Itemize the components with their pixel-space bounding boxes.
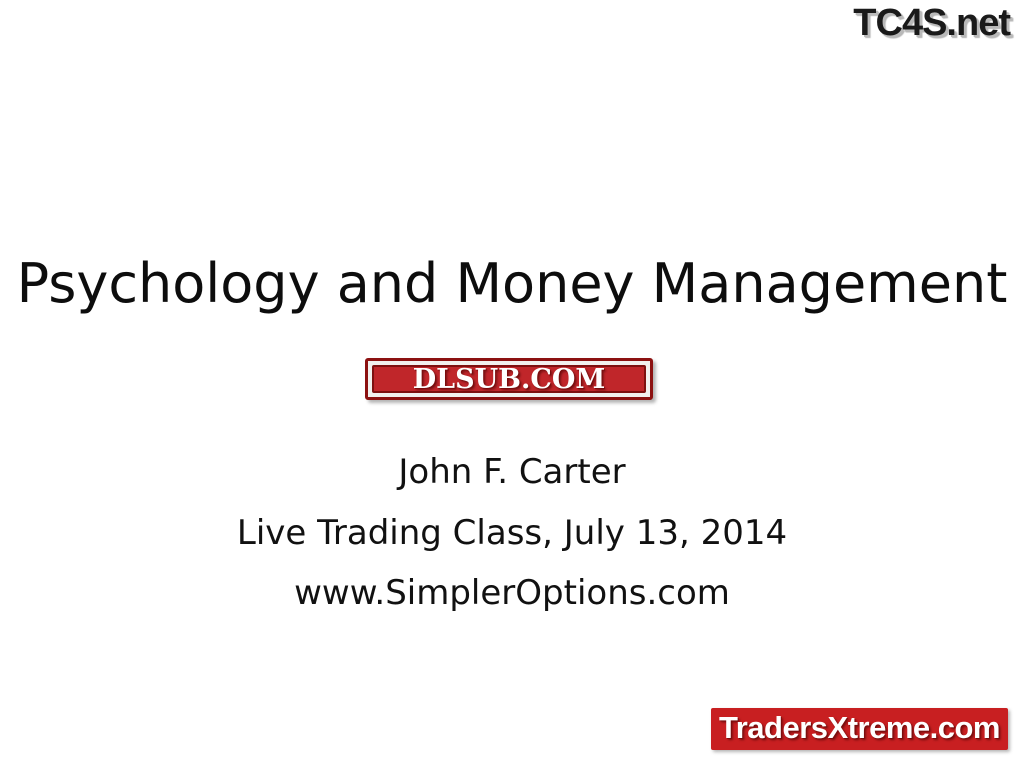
dlsub-stamp-watermark: DLSUB.COM [365, 358, 653, 400]
slide-subtitle: John F. Carter Live Trading Class, July … [0, 442, 1024, 624]
presentation-slide: TC4S.net Psychology and Money Management… [0, 0, 1024, 768]
tc4s-watermark: TC4S.net [853, 2, 1010, 45]
subtitle-line-website: www.SimplerOptions.com [0, 563, 1024, 624]
dlsub-stamp-label: DLSUB.COM [413, 366, 606, 393]
tradersxtreme-watermark: TradersXtreme.com [711, 708, 1008, 750]
subtitle-line-author: John F. Carter [0, 442, 1024, 503]
page-title: Psychology and Money Management [0, 248, 1024, 319]
dlsub-stamp-plate: DLSUB.COM [365, 358, 653, 400]
subtitle-line-event: Live Trading Class, July 13, 2014 [0, 503, 1024, 564]
dlsub-stamp-inner: DLSUB.COM [372, 365, 646, 393]
